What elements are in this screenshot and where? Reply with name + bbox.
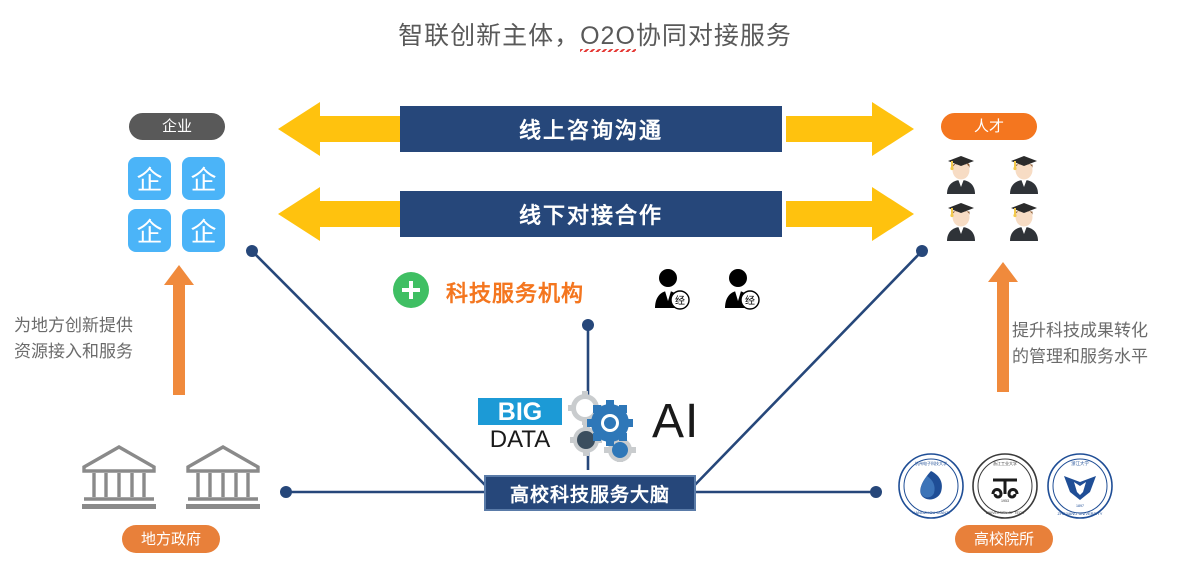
broker-icon-2: 经 [722, 268, 760, 310]
enterprise-icon-4-glyph: 企 [190, 212, 216, 249]
left-caption-line-1: 为地方创新提供 [14, 313, 133, 339]
talent-pill-label: 人才 [974, 119, 1004, 134]
plus-icon[interactable] [393, 272, 429, 308]
banner-offline-label: 线下对接合作 [519, 198, 663, 230]
bigdata-top-text: BIG [498, 398, 542, 426]
brain-box-label: 高校科技服务大脑 [510, 480, 670, 507]
left-caption: 为地方创新提供 资源接入和服务 [14, 313, 133, 366]
enterprise-icon-1[interactable]: 企 [128, 157, 171, 200]
enterprise-icon-2[interactable]: 企 [182, 157, 225, 200]
zhejiang-university-seal: 浙江大学 1897 ZHEJIANG UNIVERSITY [1046, 452, 1114, 520]
svg-text:杭州电子科技大学: 杭州电子科技大学 [915, 460, 947, 466]
government-pill[interactable]: 地方政府 [122, 525, 220, 553]
diagram-canvas: 智联创新主体，O2O协同对接服务 企业 企 企 企 企 人才 [0, 0, 1190, 584]
enterprise-icon-3[interactable]: 企 [128, 209, 171, 252]
svg-text:经: 经 [745, 294, 755, 307]
government-building-icon-2 [184, 441, 262, 513]
plus-glyph [400, 279, 422, 301]
svg-text:浙江工业大学: 浙江工业大学 [993, 460, 1017, 466]
enterprise-icon-4[interactable]: 企 [182, 209, 225, 252]
svg-text:UNIVERSITY OF TECH: UNIVERSITY OF TECH [986, 511, 1025, 515]
svg-text:浙江大学: 浙江大学 [1071, 460, 1089, 467]
up-arrow-icon-left [164, 265, 194, 395]
broker-icon-1: 经 [652, 268, 690, 310]
university-pill[interactable]: 高校院所 [955, 525, 1053, 553]
left-caption-line-2: 资源接入和服务 [14, 339, 133, 365]
svg-text:HANGZHOU DIANZI: HANGZHOU DIANZI [912, 510, 949, 515]
banner-online-label: 线上咨询沟通 [519, 113, 663, 145]
bigdata-logo-icon: BIG DATA [478, 398, 562, 450]
svg-text:ZHEJIANG UNIVERSITY: ZHEJIANG UNIVERSITY [1058, 511, 1103, 516]
svg-text:1897: 1897 [1076, 504, 1084, 508]
arrow-right-icon [786, 185, 914, 243]
gear-cluster-icon [562, 390, 644, 462]
banner-offline-bar: 线下对接合作 [400, 191, 782, 237]
arrow-right-icon [786, 100, 914, 158]
enterprise-pill[interactable]: 企业 [129, 113, 225, 140]
enterprise-icon-1-glyph: 企 [136, 160, 162, 197]
arrow-left-icon [278, 185, 406, 243]
svg-text:1953: 1953 [1001, 499, 1009, 503]
up-arrow-icon-right [988, 262, 1018, 392]
brain-box[interactable]: 高校科技服务大脑 [484, 475, 696, 511]
zhejiang-university-of-technology-seal: 浙江工业大学 1953 UNIVERSITY OF TECH [971, 452, 1039, 520]
page-title: 智联创新主体，O2O协同对接服务 [0, 16, 1190, 52]
government-pill-label: 地方政府 [141, 532, 201, 547]
right-caption-line-1: 提升科技成果转化 [1012, 318, 1148, 344]
graduate-avatar-icon-3 [941, 197, 981, 243]
svg-text:经: 经 [675, 294, 685, 307]
arrow-left-icon [278, 100, 406, 158]
bigdata-bottom-text: DATA [490, 426, 550, 450]
banner-online[interactable]: 线上咨询沟通 [278, 100, 914, 158]
enterprise-icon-3-glyph: 企 [136, 212, 162, 249]
talent-pill[interactable]: 人才 [941, 113, 1037, 140]
graduate-avatar-icon-4 [1004, 197, 1044, 243]
page-title-suffix: 协同对接服务 [636, 22, 792, 50]
enterprise-pill-label: 企业 [162, 119, 192, 134]
university-pill-label: 高校院所 [974, 532, 1034, 547]
government-building-icon-1 [80, 441, 158, 513]
graduate-avatar-icon-2 [1004, 150, 1044, 196]
graduate-avatar-icon-1 [941, 150, 981, 196]
enterprise-icon-2-glyph: 企 [190, 160, 216, 197]
page-title-prefix: 智联创新主体， [398, 22, 580, 50]
banner-offline[interactable]: 线下对接合作 [278, 185, 914, 243]
page-title-highlight: O2O [580, 22, 636, 52]
hangzhou-dianzi-university-seal: 杭州电子科技大学 HANGZHOU DIANZI [897, 452, 965, 520]
service-org-label: 科技服务机构 [446, 276, 584, 308]
right-caption-line-2: 的管理和服务水平 [1012, 344, 1148, 370]
right-caption: 提升科技成果转化 的管理和服务水平 [1012, 318, 1148, 371]
ai-label: AI [652, 398, 699, 446]
banner-online-bar: 线上咨询沟通 [400, 106, 782, 152]
